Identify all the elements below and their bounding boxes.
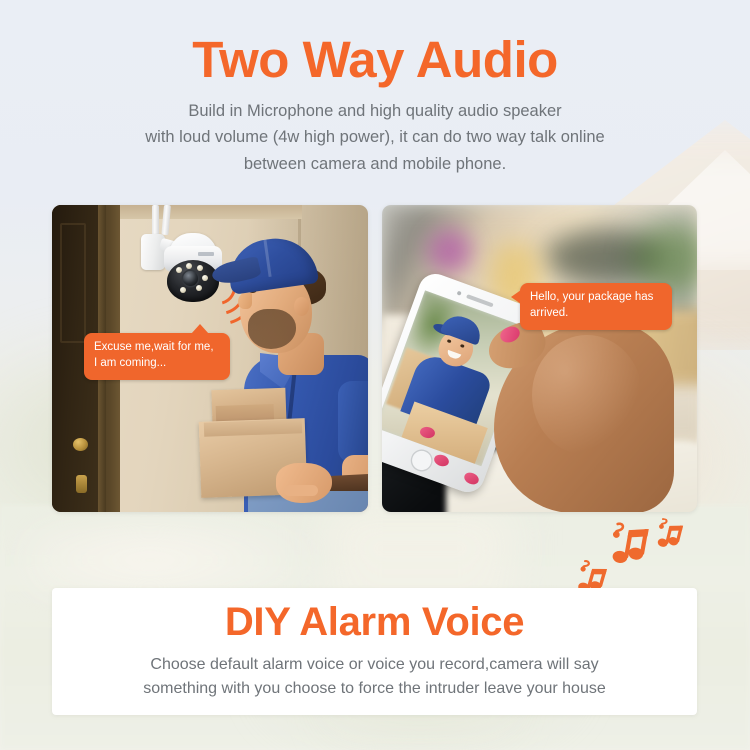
diy-alarm-voice-card: DIY Alarm Voice Choose default alarm voi… xyxy=(52,588,697,715)
camera-brand-mark xyxy=(198,252,214,256)
earpiece-speaker xyxy=(466,294,494,307)
header-subtitle: Build in Microphone and high quality aud… xyxy=(0,98,750,178)
door-knob-icon xyxy=(73,438,88,451)
phone-video-call-photo xyxy=(382,205,697,512)
courier-hand xyxy=(276,463,332,503)
ir-led-icon xyxy=(180,287,186,293)
background-bokeh xyxy=(428,229,472,273)
door-lock-icon xyxy=(76,475,87,493)
bubble-tail-icon xyxy=(191,324,209,334)
header-subtitle-line-2: with loud volume (4w high power), it can… xyxy=(0,124,750,151)
phone-speech-bubble: Hello, your package has arrived. xyxy=(520,283,672,330)
door-panel xyxy=(60,223,86,343)
ear xyxy=(294,297,309,316)
ir-led-icon xyxy=(176,267,182,273)
bottom-subtitle: Choose default alarm voice or voice you … xyxy=(52,653,697,701)
bubble-line-1: Excuse me,wait for me, xyxy=(94,340,220,356)
bubble-line-1: Hello, your package has xyxy=(530,290,662,306)
promo-banner: Two Way Audio Build in Microphone and hi… xyxy=(0,0,750,750)
header-section: Two Way Audio Build in Microphone and hi… xyxy=(0,0,750,178)
bottom-subtitle-line-1: Choose default alarm voice or voice you … xyxy=(52,653,697,677)
music-note-icon xyxy=(601,520,654,571)
page-title: Two Way Audio xyxy=(0,33,750,87)
bubble-tail-icon xyxy=(511,290,521,304)
bottom-title: DIY Alarm Voice xyxy=(52,600,697,644)
courier-speech-bubble: Excuse me,wait for me, I am coming... xyxy=(84,333,230,380)
hand-highlight xyxy=(532,335,642,455)
courier-fingers xyxy=(284,485,318,496)
bubble-line-2: I am coming... xyxy=(94,356,220,372)
ir-led-icon xyxy=(186,263,192,269)
music-note-icon xyxy=(651,517,688,555)
bottom-subtitle-line-2: something with you choose to force the i… xyxy=(52,677,697,701)
home-button[interactable] xyxy=(408,446,436,474)
nose xyxy=(238,293,252,309)
front-camera-icon xyxy=(457,291,462,296)
bubble-line-2: arrived. xyxy=(530,306,662,322)
header-subtitle-line-3: between camera and mobile phone. xyxy=(0,151,750,178)
header-subtitle-line-1: Build in Microphone and high quality aud… xyxy=(0,98,750,125)
shirt-sleeve xyxy=(338,381,368,463)
